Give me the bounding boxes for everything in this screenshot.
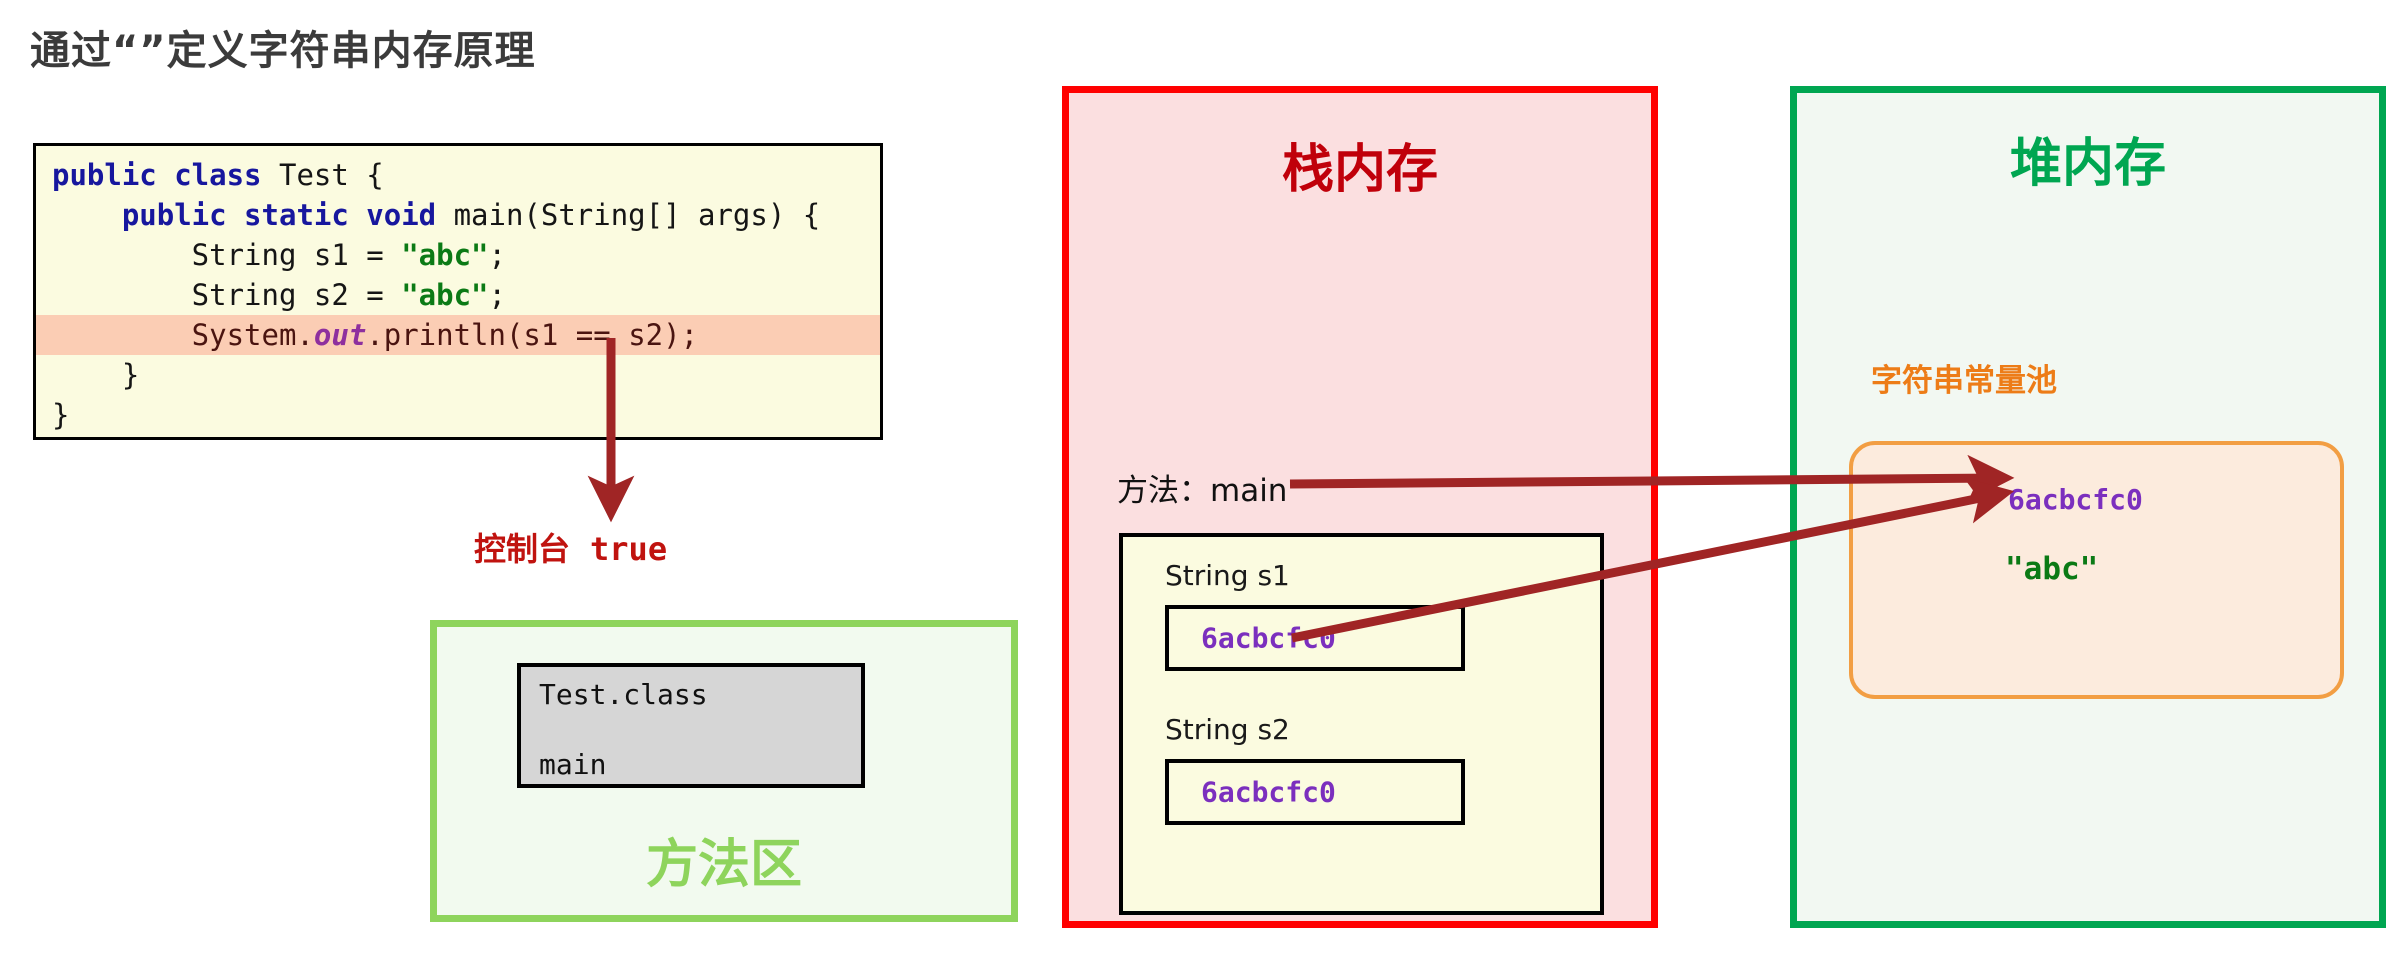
stack-var-s1-address: 6acbcfc0 — [1201, 622, 1336, 655]
code-token: Test { — [279, 158, 384, 192]
code-block: public class Test { public static void m… — [33, 143, 883, 440]
method-area-method-name: main — [539, 749, 861, 781]
code-token: public static void — [122, 198, 454, 232]
code-token: "abc" — [401, 278, 488, 312]
page-title: 通过“”定义字符串内存原理 — [30, 18, 536, 76]
console-value-text: true — [590, 530, 667, 568]
stack-var-s1-value-box: 6acbcfc0 — [1165, 605, 1465, 671]
code-token: "abc" — [401, 238, 488, 272]
console-label-text: 控制台 — [474, 530, 570, 568]
code-token: ; — [489, 238, 506, 272]
heap-memory-panel: 堆内存 字符串常量池 6acbcfc0 "abc" — [1790, 86, 2386, 928]
method-area-class-name: Test.class — [539, 679, 861, 711]
heap-memory-title: 堆内存 — [1797, 121, 2379, 196]
method-area-title: 方法区 — [437, 822, 1011, 897]
code-token: ; — [489, 278, 506, 312]
code-line: public class Test { — [36, 155, 880, 195]
code-line: String s2 = "abc"; — [36, 275, 880, 315]
method-area-class-box: Test.class main — [517, 663, 865, 788]
method-area-panel: Test.class main 方法区 — [430, 620, 1018, 922]
code-token — [52, 198, 122, 232]
stack-memory-panel: 栈内存 方法：main String s1 6acbcfc0 String s2… — [1062, 86, 1658, 928]
stack-var-s1-label: String s1 — [1165, 559, 1290, 592]
string-constant-pool-box: 6acbcfc0 "abc" — [1849, 441, 2344, 699]
pool-address: 6acbcfc0 — [2008, 483, 2143, 516]
stack-var-s2-value-box: 6acbcfc0 — [1165, 759, 1465, 825]
string-constant-pool-label: 字符串常量池 — [1871, 355, 2057, 400]
stack-var-s2-address: 6acbcfc0 — [1201, 776, 1336, 809]
stack-frame-box: String s1 6acbcfc0 String s2 6acbcfc0 — [1119, 533, 1604, 915]
code-token: String s2 = — [52, 278, 401, 312]
stack-method-frame-label: 方法：main — [1117, 465, 1287, 510]
console-output-label: 控制台true — [474, 524, 667, 570]
diagram-canvas: 通过“”定义字符串内存原理 public class Test { public… — [0, 0, 2403, 968]
code-line: System.out.println(s1 == s2); — [36, 315, 880, 355]
code-token: main(String[] args) { — [454, 198, 821, 232]
pool-literal: "abc" — [2005, 551, 2098, 587]
code-token: String s1 = — [52, 238, 401, 272]
stack-method-frame-text: 方法：main — [1117, 473, 1287, 509]
stack-var-s2-label: String s2 — [1165, 713, 1290, 746]
code-token: out — [314, 318, 366, 352]
code-token: .println(s1 == s2); — [366, 318, 698, 352]
code-line: String s1 = "abc"; — [36, 235, 880, 275]
code-token: } — [52, 398, 69, 432]
code-line: } — [36, 355, 880, 395]
stack-memory-title: 栈内存 — [1069, 127, 1651, 202]
code-token: } — [52, 358, 139, 392]
code-token: public class — [52, 158, 279, 192]
code-line: } — [36, 395, 880, 435]
code-token: System. — [52, 318, 314, 352]
code-line: public static void main(String[] args) { — [36, 195, 880, 235]
